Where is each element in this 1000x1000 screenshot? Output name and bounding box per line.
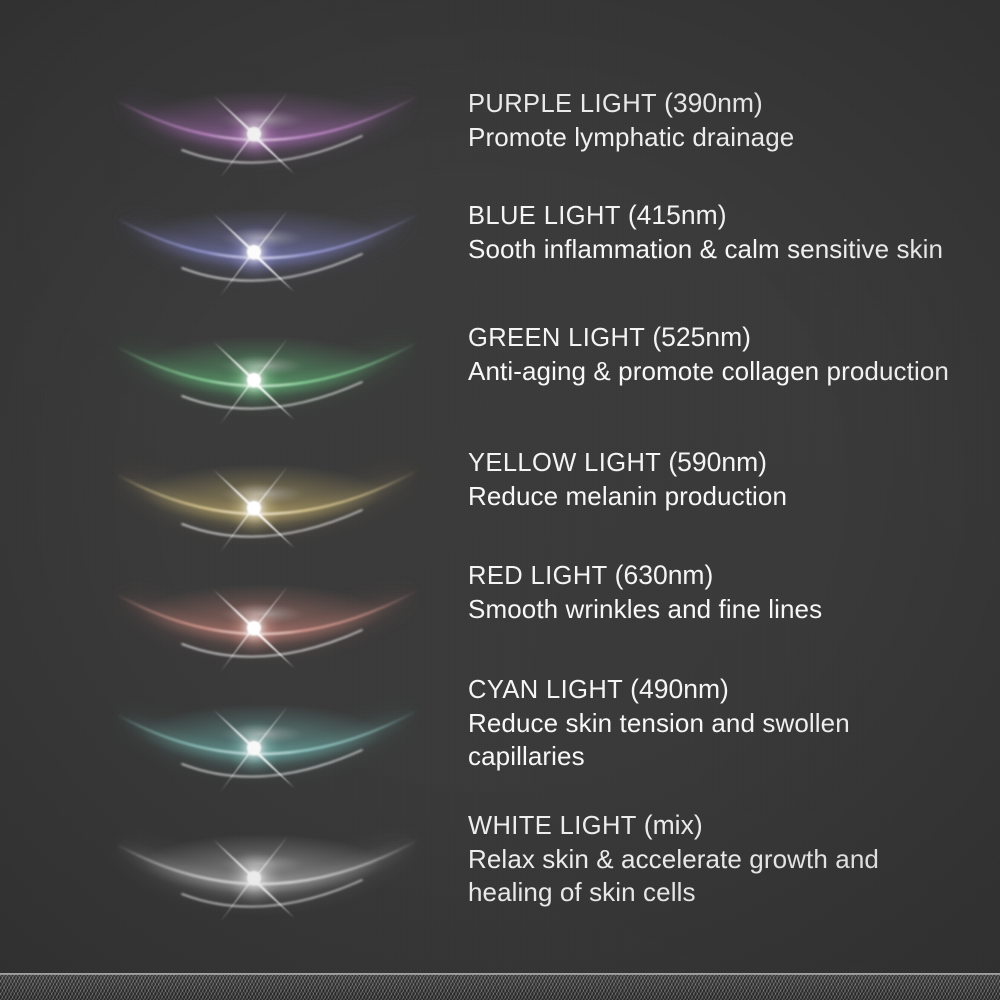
yellow-light-text-block: YELLOW LIGHT (590nm)Reduce melanin produ… [468, 445, 968, 513]
green-light-wavelength: (525nm) [652, 322, 751, 352]
red-light-text-block: RED LIGHT (630nm)Smooth wrinkles and fin… [468, 558, 968, 626]
yellow-light-wavelength: (590nm) [668, 447, 767, 477]
cyan-light-sparkle-icon [194, 688, 314, 808]
red-light-streak [112, 572, 422, 668]
red-light-heading: RED LIGHT (630nm) [468, 558, 968, 593]
blue-light-streak [112, 196, 422, 292]
purple-light-heading: PURPLE LIGHT (390nm) [468, 86, 968, 121]
white-light-wavelength: (mix) [644, 810, 703, 840]
blue-light-sparkle-icon [194, 192, 314, 312]
green-light-heading-label: GREEN LIGHT [468, 324, 645, 352]
green-light-sparkle-icon [194, 320, 314, 440]
green-light-description: Anti-aging & promote collagen production [468, 355, 968, 388]
red-light-wavelength: (630nm) [615, 560, 714, 590]
purple-light-text-block: PURPLE LIGHT (390nm)Promote lymphatic dr… [468, 86, 968, 154]
purple-light-heading-label: PURPLE LIGHT [468, 90, 657, 118]
yellow-light-streak [112, 452, 422, 548]
green-light-heading: GREEN LIGHT (525nm) [468, 320, 968, 355]
white-light-text-block: WHITE LIGHT (mix)Relax skin & accelerate… [468, 808, 968, 909]
yellow-light-heading-label: YELLOW LIGHT [468, 449, 661, 477]
yellow-light-heading: YELLOW LIGHT (590nm) [468, 445, 968, 480]
blue-light-text-block: BLUE LIGHT (415nm)Sooth inflammation & c… [468, 198, 968, 266]
cyan-light-streak [112, 692, 422, 788]
green-light-streak [112, 324, 422, 420]
yellow-light-sparkle-icon [194, 448, 314, 568]
red-light-sparkle-icon [194, 568, 314, 688]
blue-light-description: Sooth inflammation & calm sensitive skin [468, 233, 968, 266]
cyan-light-heading: CYAN LIGHT (490nm) [468, 672, 968, 707]
purple-light-streak [112, 78, 422, 174]
blue-light-heading-label: BLUE LIGHT [468, 202, 620, 230]
cyan-light-description: Reduce skin tension and swollen capillar… [468, 707, 968, 773]
cyan-light-text-block: CYAN LIGHT (490nm)Reduce skin tension an… [468, 672, 968, 773]
purple-light-description: Promote lymphatic drainage [468, 121, 968, 154]
yellow-light-description: Reduce melanin production [468, 480, 968, 513]
white-light-heading: WHITE LIGHT (mix) [468, 808, 968, 843]
green-light-text-block: GREEN LIGHT (525nm)Anti-aging & promote … [468, 320, 968, 388]
red-light-description: Smooth wrinkles and fine lines [468, 593, 968, 626]
blue-light-heading: BLUE LIGHT (415nm) [468, 198, 968, 233]
white-light-streak [112, 822, 422, 918]
poster-canvas: PURPLE LIGHT (390nm)Promote lymphatic dr… [0, 0, 1000, 1000]
purple-light-sparkle-icon [194, 74, 314, 194]
cyan-light-wavelength: (490nm) [630, 674, 729, 704]
red-light-heading-label: RED LIGHT [468, 562, 607, 590]
blue-light-wavelength: (415nm) [628, 200, 727, 230]
white-light-description: Relax skin & accelerate growth and heali… [468, 843, 968, 909]
cyan-light-heading-label: CYAN LIGHT [468, 676, 623, 704]
purple-light-wavelength: (390nm) [664, 88, 763, 118]
white-light-heading-label: WHITE LIGHT [468, 812, 636, 840]
white-light-sparkle-icon [194, 818, 314, 938]
bottom-textured-strip [0, 975, 1000, 1000]
